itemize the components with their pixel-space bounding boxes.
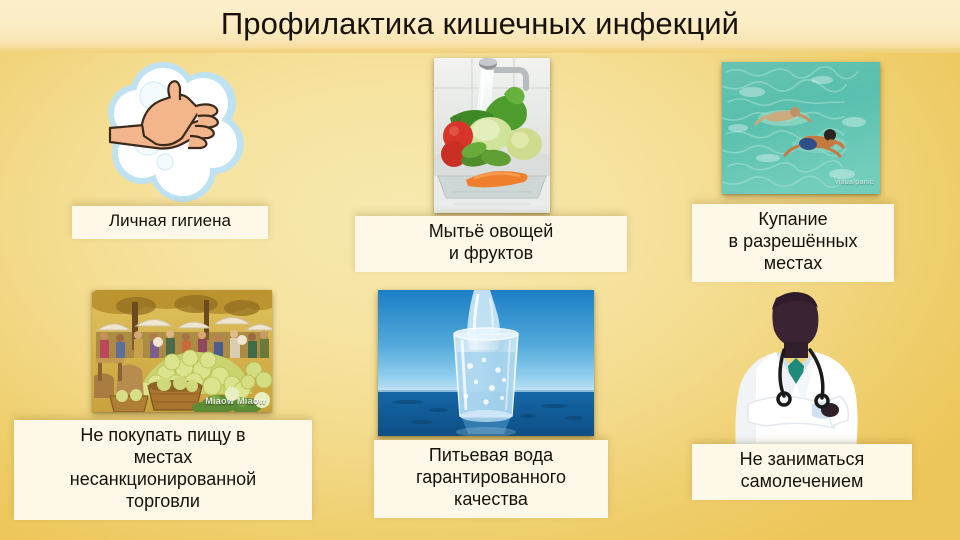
image-hand-hygiene [108, 62, 248, 202]
caption-drinking-water: Питьевая вода гарантированного качества [374, 440, 608, 518]
caption-unsanctioned-trade: Не покупать пищу в местах несанкциониров… [14, 420, 312, 520]
caption-line: Питьевая вода [384, 445, 598, 467]
caption-hand-hygiene: Личная гигиена [72, 206, 268, 239]
street-market-painting [92, 290, 272, 412]
image-doctor [714, 292, 878, 454]
image-swimming: visualpanic [722, 62, 880, 194]
caption-line: Купание [702, 209, 884, 231]
swimmers-in-sea-photo [722, 62, 880, 194]
caption-line: качества [384, 489, 598, 511]
watermark-miaow-miaow: Miaow Miaow [205, 396, 266, 406]
slide-canvas: Профилактика кишечных инфекций [0, 0, 960, 540]
watermark-visualpanic: visualpanic [835, 179, 874, 186]
caption-wash-produce: Мытьё овощей и фруктов [355, 216, 627, 272]
caption-line: самолечением [702, 471, 902, 493]
image-street-market: Miaow Miaow [92, 290, 272, 412]
caption-line: Не заниматься [702, 449, 902, 471]
caption-line: гарантированного [384, 467, 598, 489]
caption-line: Не покупать пищу в [24, 425, 302, 447]
caption-no-self-medication: Не заниматься самолечением [692, 444, 912, 500]
caption-line: Мытьё овощей [365, 221, 617, 243]
caption-line: в разрешённых [702, 231, 884, 253]
caption-swimming: Купание в разрешённых местах [692, 204, 894, 282]
image-drinking-water [378, 290, 594, 436]
caption-line: торговли [24, 491, 302, 513]
washing-hands-icon [108, 62, 248, 202]
caption-line: местах [24, 447, 302, 469]
page-title: Профилактика кишечных инфекций [0, 4, 960, 44]
doctor-silhouette-icon [714, 292, 878, 454]
glass-of-water-photo [378, 290, 594, 436]
vegetables-in-sink-photo [434, 58, 550, 213]
caption-line: Личная гигиена [82, 211, 258, 232]
caption-line: и фруктов [365, 243, 617, 265]
caption-line: несанкционированной [24, 469, 302, 491]
title-divider [0, 48, 960, 53]
caption-line: местах [702, 253, 884, 275]
image-wash-produce [434, 58, 550, 213]
